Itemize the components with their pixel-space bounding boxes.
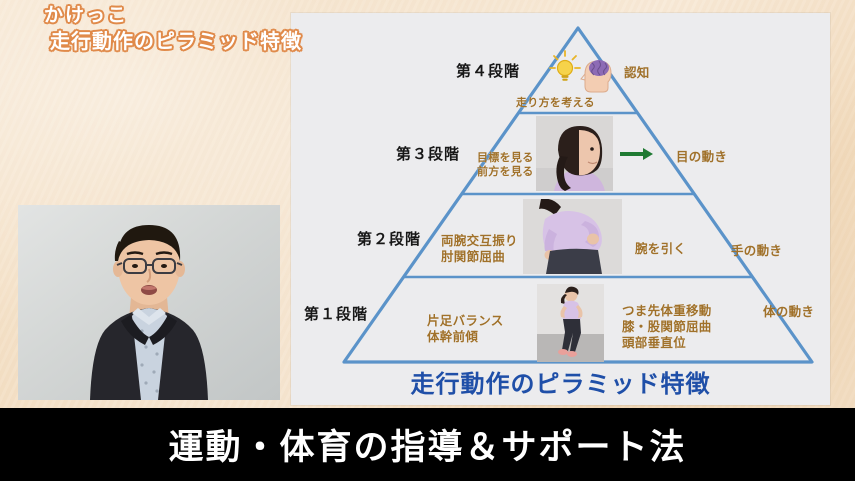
bottom-banner-text: 運動・体育の指導＆サポート法 [168,419,686,470]
photo-head-side-profile [536,116,613,191]
screen-root: かけっこ 走行動作のピラミッド特徴 [0,0,855,481]
right-label-body-movement: 体の動き [763,301,814,320]
overlay-title: かけっこ 走行動作のピラミッド特徴 [44,4,302,53]
right-label-cognition: 認知 [624,62,650,81]
stage-label-4: 第４段階 [456,60,520,81]
slide-caption: 走行動作のピラミッド特徴 [291,364,830,399]
level4-center-text: 走り方を考える [516,96,595,110]
photo-arm-swing-torso [523,199,622,274]
level2-left-text: 両腕交互振り 肘関節屈曲 [441,233,518,265]
right-label-hand-movement: 手の動き [731,240,782,259]
presenter-video [18,205,280,400]
stage-label-2: 第２段階 [357,228,421,249]
lightbulb-brain-icon [548,49,616,97]
right-label-eye-movement: 目の動き [676,146,727,165]
stage-label-1: 第１段階 [304,303,368,324]
bottom-banner: 運動・体育の指導＆サポート法 [0,408,855,481]
level3-left-text: 目標を見る 前方を見る [477,151,534,179]
stage-label-3: 第３段階 [396,143,460,164]
slide-panel: 第４段階 走り方を考える 認知 第３段階 目標を見る 前方を見る [291,13,830,405]
overlay-title-line1: かけっこ [44,4,302,27]
level1-left-text: 片足バランス 体幹前傾 [427,313,504,345]
level2-inner-right-text: 腕を引く [635,241,686,257]
green-arrow-icon [620,147,654,161]
overlay-title-line2: 走行動作のピラミッド特徴 [50,29,302,53]
photo-full-body-running [537,284,604,362]
level1-inner-right-text: つま先体重移動 膝・股関節屈曲 頭部垂直位 [622,303,712,351]
